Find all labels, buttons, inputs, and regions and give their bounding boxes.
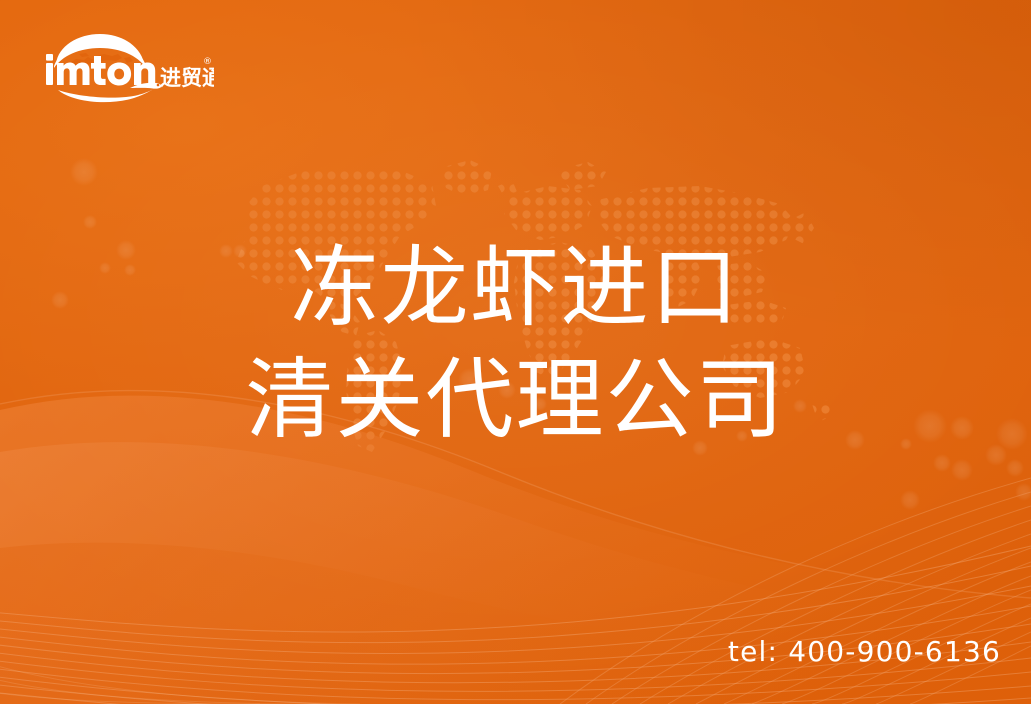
imton-logo[interactable]: 进贸通 ® bbox=[34, 30, 214, 104]
headline: 冻龙虾进口 清关代理公司 bbox=[0, 232, 1031, 456]
logo-chinese-name: 进贸通 bbox=[160, 66, 214, 90]
promo-banner: 进贸通 ® 冻龙虾进口 清关代理公司 tel: 400-900-6136 bbox=[0, 0, 1031, 704]
swoosh-icon bbox=[58, 83, 161, 102]
headline-line-1: 冻龙虾进口 bbox=[0, 232, 1031, 344]
contact-phone[interactable]: tel: 400-900-6136 bbox=[728, 635, 1001, 668]
registered-trademark-icon: ® bbox=[203, 57, 212, 67]
headline-line-2: 清关代理公司 bbox=[0, 344, 1031, 456]
